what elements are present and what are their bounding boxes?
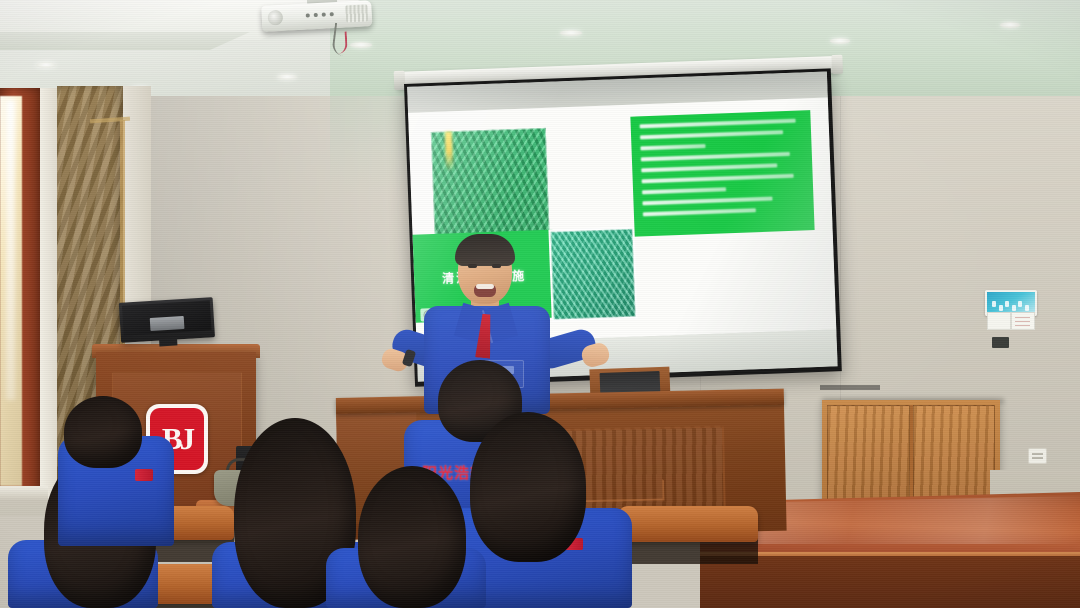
outlet-slot: [1032, 457, 1043, 459]
control-panel-icon[interactable]: [992, 301, 996, 307]
control-panel-label-line: [1015, 321, 1030, 322]
window-glare: [6, 100, 15, 400]
monitor-stand: [159, 337, 177, 346]
ceiling-soffit-secondary: [0, 32, 250, 50]
slide-photo-light-streak: [445, 131, 453, 171]
downlight-icon: [350, 42, 372, 48]
control-panel-icon[interactable]: [1025, 305, 1029, 311]
control-panel-keypad[interactable]: [987, 312, 1011, 330]
wall-cabinet[interactable]: [822, 400, 1000, 510]
keypad-display: [992, 337, 1009, 348]
downlight-icon: [277, 74, 297, 80]
slide-text-line: [642, 174, 794, 184]
slide-text-line: [640, 119, 796, 129]
control-panel-icon[interactable]: [1018, 301, 1022, 307]
chair-right[interactable]: [618, 506, 758, 542]
housing-end-cap-right: [831, 55, 843, 74]
slide-text-line: [643, 208, 756, 216]
outlet-slot: [1032, 453, 1043, 455]
slide-text-line: [640, 144, 705, 150]
cabinet-door-right[interactable]: [913, 405, 996, 505]
slide-text-line: [642, 197, 772, 206]
downlight-icon: [560, 30, 582, 36]
conference-room-photo: 清洁生产措施 BJ: [0, 0, 1080, 608]
attendee-left-back-hair: [64, 396, 142, 468]
control-panel-icon[interactable]: [1012, 305, 1016, 311]
presenter-eye-right: [492, 264, 501, 268]
presenter-hair: [455, 234, 515, 266]
attendee-left-back-chest-logo: [135, 469, 153, 481]
downlight-icon: [830, 38, 850, 44]
control-panel-icon[interactable]: [999, 305, 1003, 311]
attendee-center-front-hair: [470, 412, 586, 562]
attendee-right-hair: [358, 466, 466, 608]
slide-text-box: [630, 110, 814, 237]
control-panel-label-line: [1015, 317, 1030, 318]
control-panel-label-card: [1011, 312, 1035, 330]
podium-monitor[interactable]: [119, 297, 216, 347]
slide-text-line: [642, 187, 726, 194]
slide-text-line: [640, 130, 783, 139]
presenter-teeth: [476, 284, 494, 289]
downlight-icon: [36, 62, 56, 68]
cabinet-door-left[interactable]: [827, 405, 910, 505]
slide-text-line: [641, 152, 790, 161]
window-sill: [0, 486, 48, 500]
presenter-eye-left: [468, 264, 477, 268]
monitor-brand-label: [150, 316, 185, 331]
ceiling-projector: [261, 0, 373, 39]
control-panel-label-line: [1015, 325, 1030, 326]
wall-frame-edge: [820, 385, 880, 390]
wall-power-outlet[interactable]: [1028, 448, 1047, 464]
slide-text-line: [641, 163, 777, 172]
projector-vent: [345, 4, 368, 22]
ac-control-panel[interactable]: [985, 290, 1033, 312]
control-panel-icon[interactable]: [1005, 301, 1009, 307]
downlight-icon: [1000, 22, 1020, 28]
